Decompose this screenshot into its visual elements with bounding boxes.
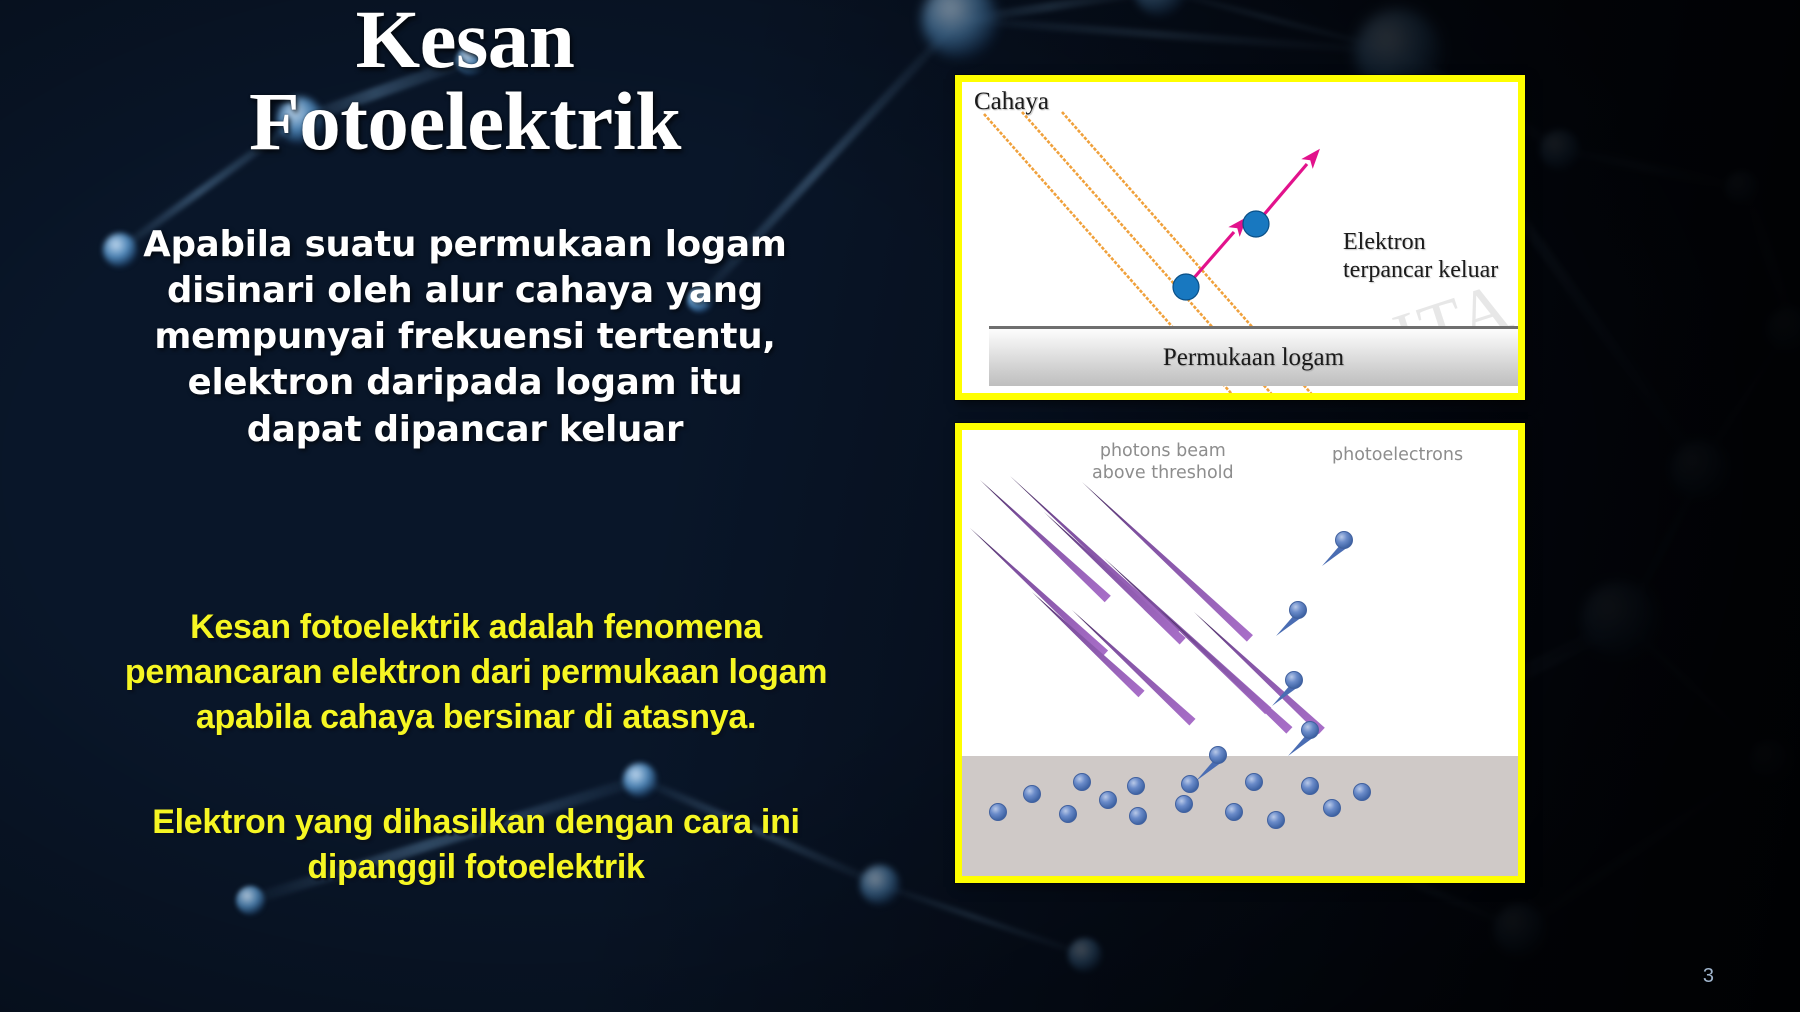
bottom-figure-canvas	[962, 430, 1518, 876]
ejected-electron-label: Elektron terpancar keluar	[1343, 228, 1518, 285]
text-column: Kesan Fotoelektrik Apabila suatu permuka…	[0, 0, 930, 1012]
conclusion-paragraph: Elektron yang dihasilkan dengan cara ini…	[36, 800, 916, 890]
slide-number: 3	[1703, 965, 1714, 988]
metal-surface-label: Permukaan logam	[1163, 344, 1344, 372]
metal-surface-bar: Permukaan logam	[989, 326, 1518, 386]
definition-paragraph: Kesan fotoelektrik adalah fenomena peman…	[36, 605, 916, 741]
light-label: Cahaya	[974, 88, 1049, 116]
figure-photoelectric-malay: ITA Cahaya Elektron terpancar keluar Per…	[955, 75, 1525, 400]
intro-paragraph: Apabila suatu permukaan logam disinari o…	[70, 222, 860, 453]
figure-photons-photoelectrons: photons beam above threshold photoelectr…	[955, 423, 1525, 883]
photons-beam-label: photons beam above threshold	[1092, 440, 1234, 485]
slide-root: Kesan Fotoelektrik Apabila suatu permuka…	[0, 0, 1800, 1012]
page-title: Kesan Fotoelektrik	[0, 0, 930, 162]
photoelectrons-label: photoelectrons	[1332, 444, 1463, 466]
